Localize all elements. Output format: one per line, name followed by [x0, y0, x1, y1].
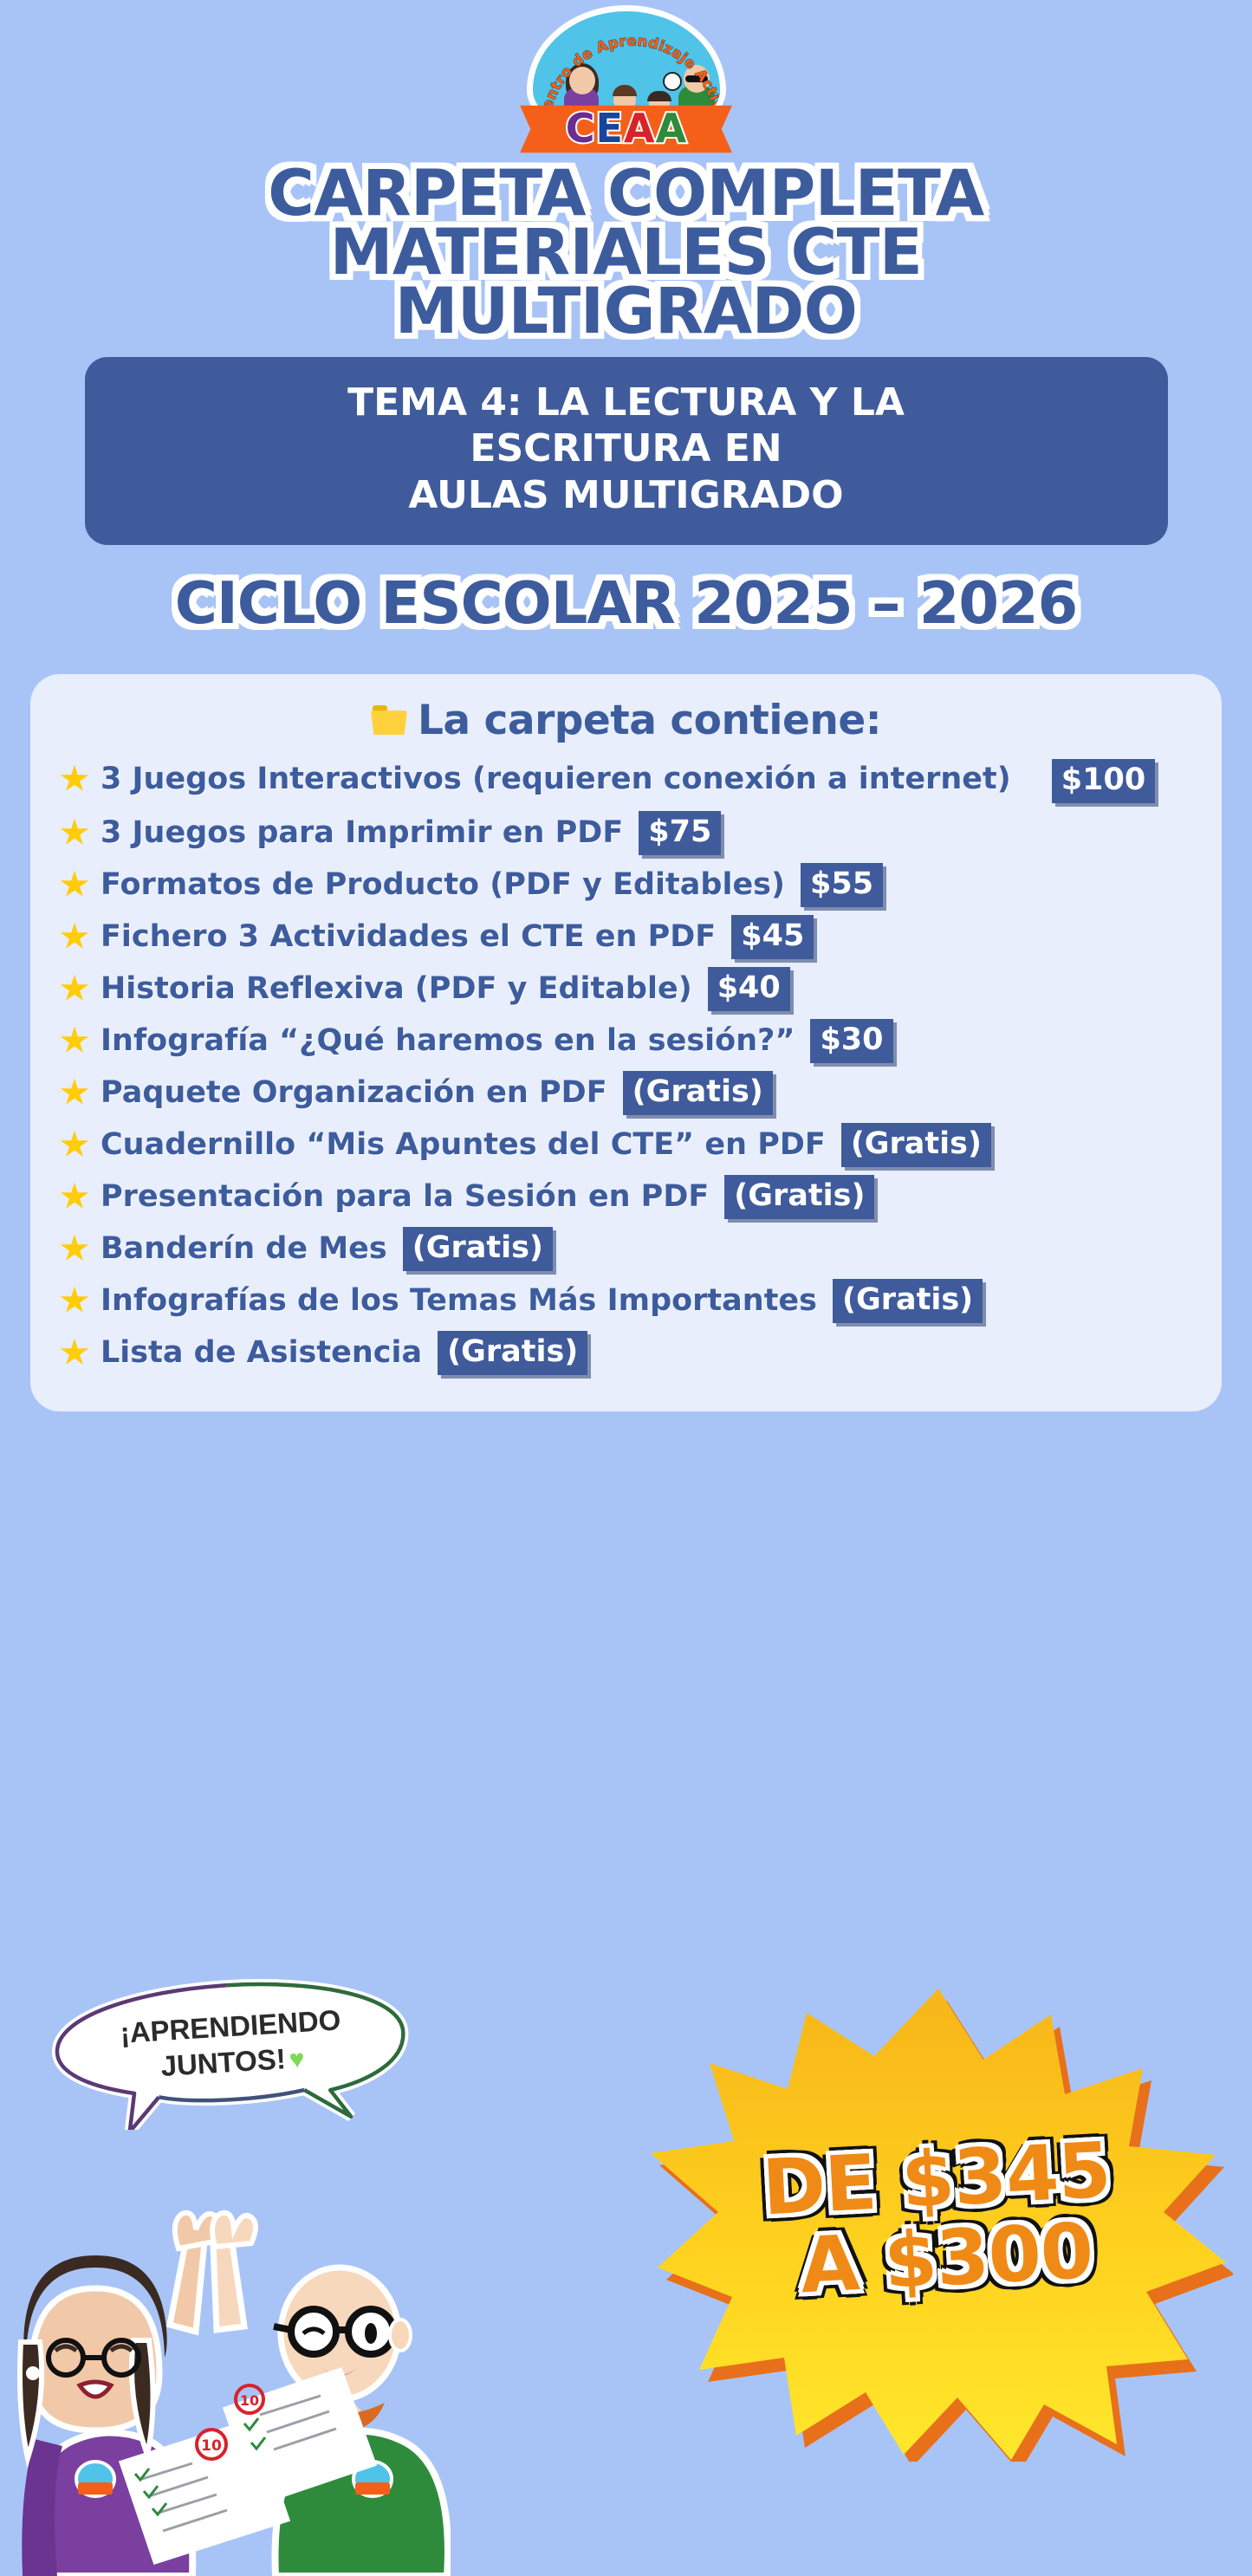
list-item: Banderín de Mes(Gratis): [60, 1226, 1192, 1272]
list-item-label: Formatos de Producto (PDF y Editables): [101, 866, 785, 905]
price-badge: (Gratis): [841, 1123, 991, 1167]
list-item: Cuadernillo “Mis Apuntes del CTE” en PDF…: [60, 1122, 1192, 1168]
list-item-label: 3 Juegos para Imprimir en PDF: [101, 814, 623, 853]
list-item-label: Cuadernillo “Mis Apuntes del CTE” en PDF: [101, 1126, 826, 1165]
high-five-arms: [170, 2213, 256, 2332]
list-item-label: Lista de Asistencia: [101, 1333, 422, 1372]
page-title-line-1: CARPETA COMPLETA: [0, 165, 1252, 224]
star-icon: [60, 1339, 89, 1367]
price-badge: $75: [639, 811, 721, 855]
logo-letter-e: E: [596, 108, 623, 148]
list-item: Infografías de los Temas Más Importantes…: [60, 1278, 1192, 1324]
list-item: Infografía “¿Qué haremos en la sesión?”$…: [60, 1018, 1192, 1064]
price-badge: (Gratis): [724, 1175, 874, 1219]
list-item-label: Fichero 3 Actividades el CTE en PDF: [101, 918, 716, 957]
contents-list: 3 Juegos Interactivos (requieren conexió…: [60, 755, 1192, 1376]
logo-letter-a1: A: [624, 108, 655, 148]
bubble-line-2: JUNTOS!: [160, 2043, 287, 2083]
list-item: Formatos de Producto (PDF y Editables)$5…: [60, 862, 1192, 908]
price-badge: (Gratis): [623, 1071, 773, 1115]
contents-card-header: La carpeta contiene:: [60, 697, 1192, 744]
list-item: Paquete Organización en PDF(Gratis): [60, 1070, 1192, 1116]
list-item-label: Historia Reflexiva (PDF y Editable): [101, 970, 692, 1009]
list-item-label: Infografías de los Temas Más Importantes: [101, 1282, 817, 1320]
star-icon: [60, 1079, 89, 1107]
soccer-ball-icon: [663, 72, 682, 91]
list-item: Fichero 3 Actividades el CTE en PDF$45: [60, 914, 1192, 960]
price-badge: (Gratis): [833, 1279, 983, 1323]
price-badge: $100: [1052, 759, 1155, 803]
page-title: CARPETA COMPLETA MATERIALES CTE MULTIGRA…: [0, 165, 1252, 341]
star-icon: [60, 819, 89, 847]
price-badge: $40: [708, 967, 790, 1011]
price-starburst: DE $345 A $300: [644, 1976, 1233, 2462]
list-item-label: 3 Juegos Interactivos (requieren conexió…: [101, 760, 1011, 799]
price-badge: (Gratis): [403, 1227, 553, 1271]
speech-bubble: ¡APRENDIENDO JUNTOS!♥: [42, 1978, 423, 2130]
subtitle-line-3: AULAS MULTIGRADO: [111, 472, 1142, 519]
price-badge: $45: [731, 915, 814, 959]
list-item: Lista de Asistencia(Gratis): [60, 1330, 1192, 1376]
list-item: 3 Juegos Interactivos (requieren conexió…: [60, 755, 1192, 804]
green-heart-icon: ♥: [289, 2043, 306, 2077]
star-icon: [60, 1183, 89, 1211]
promo-footer: ¡APRENDIENDO JUNTOS!♥ DE $345 A $300: [0, 1969, 1252, 2576]
contents-card: La carpeta contiene: 3 Juegos Interactiv…: [30, 674, 1222, 1411]
star-icon: [60, 1131, 89, 1159]
price-new-line: A $300: [786, 2212, 1094, 2306]
price-badge: $55: [801, 863, 883, 907]
logo-banner: C E A A: [520, 102, 732, 156]
star-icon: [60, 1287, 89, 1315]
price-badge: $30: [810, 1019, 892, 1063]
logo-letter-c: C: [566, 108, 595, 148]
star-icon: [60, 1027, 89, 1055]
list-item-label: Presentación para la Sesión en PDF: [101, 1178, 709, 1217]
star-icon: [60, 923, 89, 951]
topic-subtitle-box: TEMA 4: LA LECTURA Y LA ESCRITURA EN AUL…: [85, 357, 1168, 545]
star-icon: [60, 1235, 89, 1263]
folder-icon: [371, 705, 407, 735]
subtitle-line-1: TEMA 4: LA LECTURA Y LA: [111, 380, 1142, 426]
teachers-figures: 10 10: [0, 2203, 451, 2576]
contents-card-header-label: La carpeta contiene:: [418, 697, 881, 744]
svg-text:10: 10: [201, 2437, 222, 2455]
list-item: Historia Reflexiva (PDF y Editable)$40: [60, 966, 1192, 1012]
logo-letter-a2: A: [656, 108, 687, 148]
subtitle-line-2: ESCRITURA EN: [111, 425, 1142, 472]
list-item: 3 Juegos para Imprimir en PDF$75: [60, 810, 1192, 856]
teachers-illustration: 10 10: [0, 2203, 451, 2576]
star-icon: [60, 765, 89, 794]
svg-text:10: 10: [240, 2392, 259, 2409]
page-title-line-3: MULTIGRADO: [0, 282, 1252, 341]
star-icon: [60, 871, 89, 899]
price-badge: (Gratis): [438, 1331, 587, 1375]
star-icon: [60, 975, 89, 1003]
page-title-line-2: MATERIALES CTE: [0, 224, 1252, 282]
school-year-banner: CICLO ESCOLAR 2025 – 2026: [0, 574, 1252, 633]
brand-logo: Centro de Aprendizaje Activo C E A A: [0, 0, 1252, 161]
list-item-label: Infografía “¿Qué haremos en la sesión?”: [101, 1022, 795, 1061]
list-item: Presentación para la Sesión en PDF(Grati…: [60, 1174, 1192, 1220]
list-item-label: Paquete Organización en PDF: [101, 1074, 607, 1113]
list-item-label: Banderín de Mes: [101, 1230, 387, 1269]
